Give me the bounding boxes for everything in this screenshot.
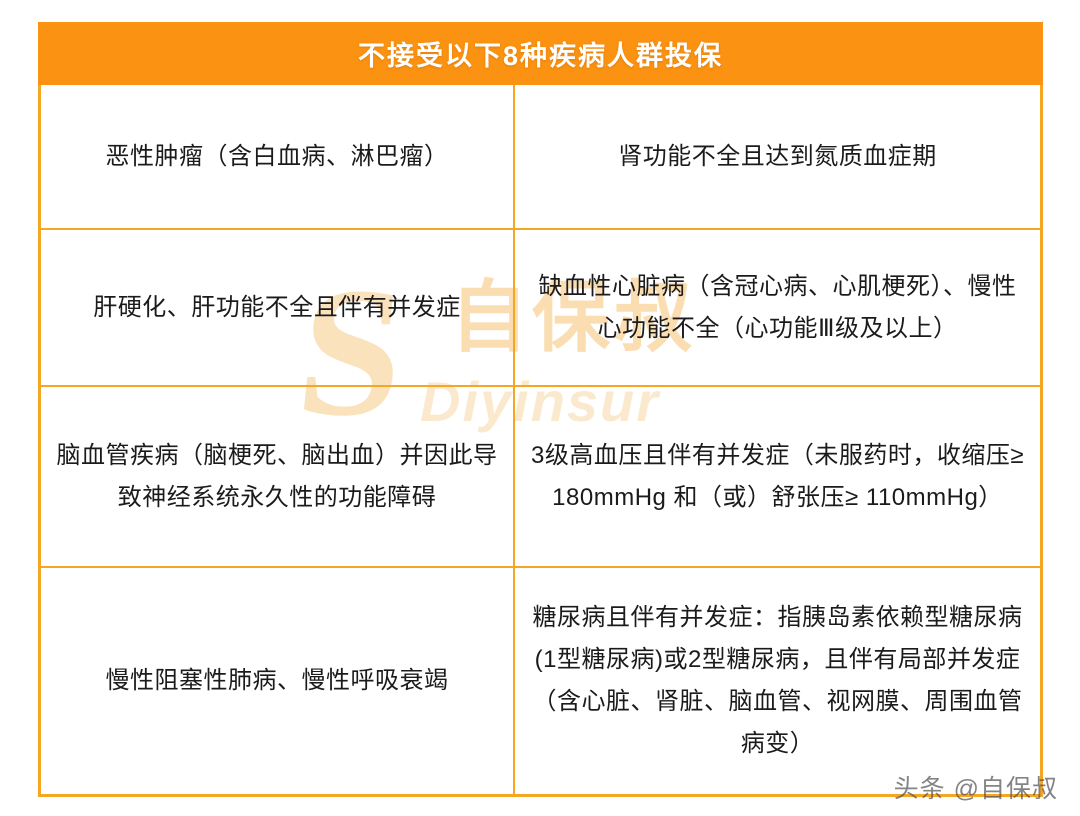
table-cell-right: 3级高血压且伴有并发症（未服药时，收缩压≥ 180mmHg 和（或）舒张压≥ 1…	[515, 387, 1040, 566]
table-cell-left: 恶性肿瘤（含白血病、淋巴瘤）	[41, 85, 515, 228]
table-row: 脑血管疾病（脑梗死、脑出血）并因此导致神经系统永久性的功能障碍 3级高血压且伴有…	[41, 387, 1040, 568]
table-body: 恶性肿瘤（含白血病、淋巴瘤） 肾功能不全且达到氮质血症期 肝硬化、肝功能不全且伴…	[38, 85, 1043, 797]
table-row: 肝硬化、肝功能不全且伴有并发症 缺血性心脏病（含冠心病、心肌梗死）、慢性心功能不…	[41, 230, 1040, 387]
table-cell-left: 肝硬化、肝功能不全且伴有并发症	[41, 230, 515, 385]
disease-exclusion-table: 不接受以下8种疾病人群投保 恶性肿瘤（含白血病、淋巴瘤） 肾功能不全且达到氮质血…	[38, 22, 1043, 797]
table-cell-right: 糖尿病且伴有并发症：指胰岛素依赖型糖尿病(1型糖尿病)或2型糖尿病，且伴有局部并…	[515, 568, 1040, 794]
corner-watermark: 头条 @自保叔	[894, 774, 1058, 804]
table-cell-left: 慢性阻塞性肺病、慢性呼吸衰竭	[41, 568, 515, 794]
table-cell-right: 肾功能不全且达到氮质血症期	[515, 85, 1040, 228]
table-cell-left: 脑血管疾病（脑梗死、脑出血）并因此导致神经系统永久性的功能障碍	[41, 387, 515, 566]
table-cell-right: 缺血性心脏病（含冠心病、心肌梗死）、慢性心功能不全（心功能Ⅲ级及以上）	[515, 230, 1040, 385]
table-row: 慢性阻塞性肺病、慢性呼吸衰竭 糖尿病且伴有并发症：指胰岛素依赖型糖尿病(1型糖尿…	[41, 568, 1040, 794]
table-row: 恶性肿瘤（含白血病、淋巴瘤） 肾功能不全且达到氮质血症期	[41, 85, 1040, 230]
table-header: 不接受以下8种疾病人群投保	[38, 22, 1043, 85]
table-title: 不接受以下8种疾病人群投保	[358, 34, 723, 73]
